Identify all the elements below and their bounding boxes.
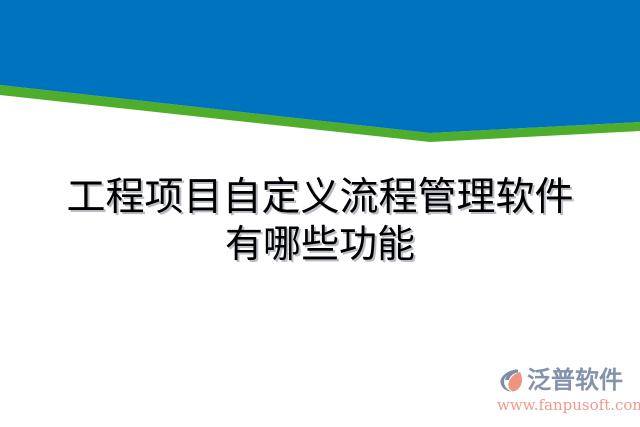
page-title: 工程项目自定义流程管理软件 有哪些功能 [0,174,640,268]
page-title-line-1: 工程项目自定义流程管理软件 [0,174,640,221]
brand-name: 泛普软件 [527,367,623,393]
page-title-line-2: 有哪些功能 [0,221,640,268]
fanpu-swoosh-icon [498,367,525,394]
slide-banner [0,0,640,145]
banner-blue-shape [0,0,640,133]
presentation-slide: 工程项目自定义流程管理软件 有哪些功能 泛普软件 www.fanpusoft.c… [0,0,640,427]
brand-logo: 泛普软件 www.fanpusoft.com [496,364,632,419]
brand-logo-row: 泛普软件 [496,364,632,396]
brand-url: www.fanpusoft.com [496,397,632,414]
